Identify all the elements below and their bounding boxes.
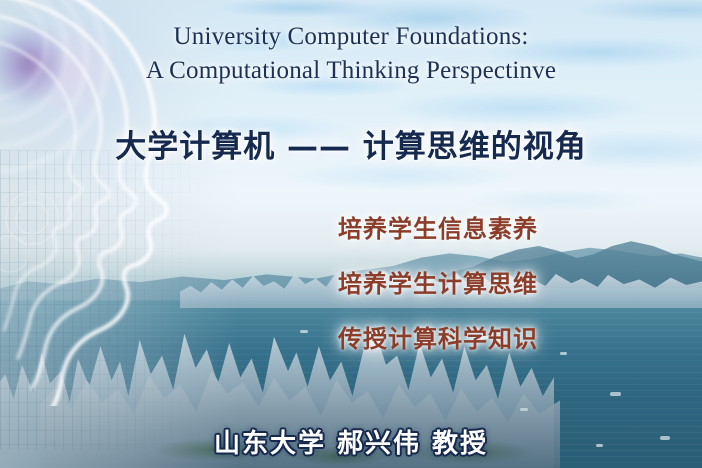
english-title: University Computer Foundations: A Compu… (0, 20, 702, 88)
objective-list: 培养学生信息素养 培养学生计算思维 传授计算科学知识 (338, 216, 638, 352)
presentation-title-slide: University Computer Foundations: A Compu… (0, 0, 702, 468)
chinese-title: 大学计算机 —— 计算思维的视角 (0, 126, 702, 168)
presenter-byline: 山东大学 郝兴伟 教授 (0, 428, 702, 460)
objective-item-1: 培养学生信息素养 (338, 216, 638, 242)
objective-item-2: 培养学生计算思维 (338, 271, 638, 297)
objective-item-3: 传授计算科学知识 (338, 326, 638, 352)
